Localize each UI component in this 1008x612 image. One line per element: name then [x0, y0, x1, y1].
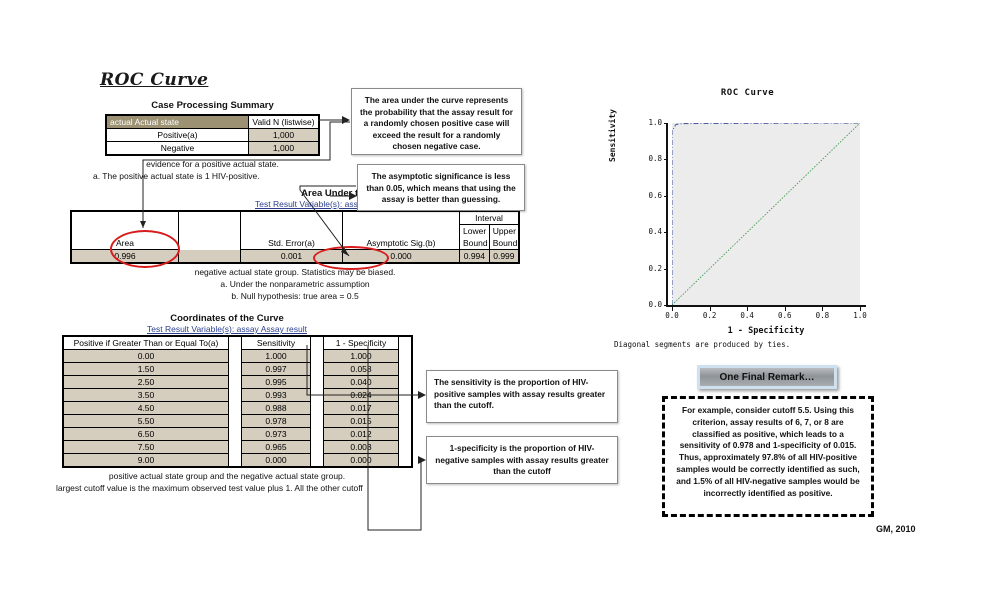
coordinates-footnote-2: largest cutoff value is the maximum obse… [56, 482, 392, 494]
chart-x-tick-label: 0.8 [810, 311, 834, 320]
table-gap-cell [399, 415, 413, 428]
table-gap-cell [229, 428, 242, 441]
coord-cell-one-minus-specificity: 0.017 [324, 402, 399, 415]
coord-cell-cutoff: 7.50 [63, 441, 229, 454]
table-gap-cell [311, 376, 324, 389]
chart-x-tick-mark [747, 307, 748, 311]
coord-cell-one-minus-specificity: 1.000 [324, 350, 399, 363]
table-row: 7.500.9650.003 [63, 441, 412, 454]
chart-y-tick-label: 0.2 [640, 264, 662, 273]
coord-cell-cutoff: 4.50 [63, 402, 229, 415]
table-gap-cell [311, 441, 324, 454]
chart-x-tick-label: 0.4 [735, 311, 759, 320]
table-row: 0.001.0001.000 [63, 350, 412, 363]
coord-cell-sensitivity: 0.000 [242, 454, 311, 468]
table-row: 5.500.9780.015 [63, 415, 412, 428]
row-label-positive: Positive(a) [106, 129, 249, 142]
case-processing-caption: Case Processing Summary [105, 100, 320, 111]
coord-cell-sensitivity: 0.993 [242, 389, 311, 402]
table-row: 6.500.9730.012 [63, 428, 412, 441]
coord-cell-cutoff: 2.50 [63, 376, 229, 389]
chart-y-tick-label: 0.4 [640, 227, 662, 236]
table-gap-cell [399, 428, 413, 441]
chart-x-tick-mark [822, 307, 823, 311]
coord-cell-sensitivity: 0.978 [242, 415, 311, 428]
coordinates-subcaption: Test Result Variable(s): assay Assay res… [62, 324, 392, 334]
chart-y-axis-label: Sensitivity [608, 109, 617, 162]
row-value-positive: 1,000 [249, 129, 320, 142]
callout-specificity: 1-specificity is the proportion of HIV-n… [426, 436, 618, 484]
auc-footnote-1: negative actual state group. Statistics … [70, 266, 520, 278]
table-gap-cell [311, 350, 324, 363]
table-gap-cell [229, 350, 242, 363]
coord-cell-sensitivity: 1.000 [242, 350, 311, 363]
chart-x-tick-mark [785, 307, 786, 311]
table-gap-cell [311, 454, 324, 468]
chart-title: ROC Curve [610, 88, 885, 98]
coordinates-table: Positive if Greater Than or Equal To(a) … [62, 335, 413, 468]
coord-cell-cutoff: 9.00 [63, 454, 229, 468]
chart-x-tick-mark [860, 307, 861, 311]
chart-x-tick-label: 0.2 [698, 311, 722, 320]
table-gap-cell [311, 428, 324, 441]
table-gap-cell [399, 402, 413, 415]
coord-cell-cutoff: 0.00 [63, 350, 229, 363]
chart-y-tick-mark [664, 232, 668, 233]
table-row: 3.500.9930.024 [63, 389, 412, 402]
coord-cell-sensitivity: 0.995 [242, 376, 311, 389]
chart-y-tick-label: 1.0 [640, 118, 662, 127]
chart-y-tick-mark [664, 159, 668, 160]
col-actual-state: actual Actual state [106, 115, 249, 129]
coord-cell-one-minus-specificity: 0.058 [324, 363, 399, 376]
table-gap-cell [399, 376, 413, 389]
table-gap-cell [399, 389, 413, 402]
chart-y-tick-label: 0.0 [640, 300, 662, 309]
table-group-header-row: Interval [71, 211, 519, 225]
table-row: 1.500.9970.058 [63, 363, 412, 376]
table-row: Negative 1,000 [106, 142, 319, 156]
highlight-ellipse-area [110, 230, 180, 268]
table-gap-cell [399, 363, 413, 376]
callout-significance: The asymptotic significance is less than… [357, 164, 525, 211]
chart-y-axis-spine [666, 123, 668, 307]
coord-cell-one-minus-specificity: 0.024 [324, 389, 399, 402]
table-gap-cell [229, 415, 242, 428]
callout-area-under-curve: The area under the curve represents the … [351, 88, 522, 155]
auc-col-std-error: Std. Error(a) [241, 225, 343, 250]
coord-cell-one-minus-specificity: 0.040 [324, 376, 399, 389]
coordinates-table-body: 0.001.0001.0001.500.9970.0582.500.9950.0… [63, 350, 412, 468]
chart-y-tick-mark [664, 196, 668, 197]
coord-cell-sensitivity: 0.965 [242, 441, 311, 454]
table-row: 4.500.9880.017 [63, 402, 412, 415]
row-label-negative: Negative [106, 142, 249, 156]
coord-cell-one-minus-specificity: 0.015 [324, 415, 399, 428]
table-row: 9.000.0000.000 [63, 454, 412, 468]
coord-cell-sensitivity: 0.973 [242, 428, 311, 441]
table-gap-cell [399, 350, 413, 363]
chart-x-axis [666, 305, 866, 307]
chart-plot-area [672, 123, 860, 305]
coord-cell-sensitivity: 0.988 [242, 402, 311, 415]
page-title: ROC Curve [100, 70, 208, 90]
callout-sensitivity: The sensitivity is the proportion of HIV… [426, 370, 618, 423]
chart-series-reference-line [672, 123, 860, 305]
chart-x-tick-label: 0.0 [660, 311, 684, 320]
table-gap-cell [229, 389, 242, 402]
case-processing-summary-block: Case Processing Summary actual Actual st… [105, 100, 320, 182]
coord-cell-one-minus-specificity: 0.003 [324, 441, 399, 454]
coord-cell-one-minus-specificity: 0.012 [324, 428, 399, 441]
coord-cell-cutoff: 5.50 [63, 415, 229, 428]
table-gap-cell [229, 454, 242, 468]
auc-footnote-3: b. Null hypothesis: true area = 0.5 [70, 290, 520, 302]
chart-x-tick-mark [710, 307, 711, 311]
coordinates-of-curve-block: Coordinates of the Curve Test Result Var… [62, 313, 392, 494]
coord-cell-one-minus-specificity: 0.000 [324, 454, 399, 468]
chart-series-svg [672, 123, 860, 305]
chart-x-tick-label: 0.6 [773, 311, 797, 320]
auc-footnote-2: a. Under the nonparametric assumption [70, 278, 520, 290]
table-gap-cell [399, 454, 413, 468]
coord-col-cutoff: Positive if Greater Than or Equal To(a) [63, 336, 229, 350]
table-header-row: actual Actual state Valid N (listwise) [106, 115, 319, 129]
highlight-ellipse-significance [313, 246, 389, 270]
table-gap-cell [229, 402, 242, 415]
auc-col-lower-bound: Lower Bound [460, 225, 490, 250]
auc-value-lower-bound: 0.994 [460, 250, 490, 264]
case-processing-footnote-2: a. The positive actual state is 1 HIV-po… [93, 170, 320, 182]
coordinates-caption: Coordinates of the Curve [62, 313, 392, 324]
coord-cell-cutoff: 3.50 [63, 389, 229, 402]
final-remark-banner: One Final Remark… [697, 365, 837, 389]
coord-cell-cutoff: 1.50 [63, 363, 229, 376]
table-gap-cell [229, 376, 242, 389]
case-processing-table: actual Actual state Valid N (listwise) P… [105, 114, 320, 156]
chart-y-tick-mark [664, 269, 668, 270]
auc-value-upper-bound: 0.999 [489, 250, 519, 264]
table-row: Positive(a) 1,000 [106, 129, 319, 142]
chart-y-tick-mark [664, 123, 668, 124]
chart-footnote: Diagonal segments are produced by ties. [614, 340, 884, 349]
coord-cell-cutoff: 6.50 [63, 428, 229, 441]
chart-x-axis-label: 1 - Specificity [672, 326, 860, 336]
coord-col-sensitivity: Sensitivity [242, 336, 311, 350]
chart-y-tick-label: 0.8 [640, 154, 662, 163]
chart-y-tick-label: 0.6 [640, 191, 662, 200]
case-processing-footnote-1: evidence for a positive actual state. [105, 158, 320, 170]
coordinates-footnote-1: positive actual state group and the nega… [62, 470, 392, 482]
author-signature: GM, 2010 [876, 524, 916, 534]
final-remark-text: For example, consider cutoff 5.5. Using … [662, 396, 874, 517]
chart-x-tick-mark [672, 307, 673, 311]
table-gap-cell [311, 402, 324, 415]
table-gap-cell [229, 441, 242, 454]
chart-x-tick-label: 1.0 [848, 311, 872, 320]
row-value-negative: 1,000 [249, 142, 320, 156]
auc-group-header-interval: Interval [460, 211, 520, 225]
table-header-row: Positive if Greater Than or Equal To(a) … [63, 336, 412, 350]
coord-col-one-minus-specificity: 1 - Specificity [324, 336, 399, 350]
table-gap-cell [311, 363, 324, 376]
table-gap-cell [399, 441, 413, 454]
table-gap-cell [311, 415, 324, 428]
coord-cell-sensitivity: 0.997 [242, 363, 311, 376]
auc-col-upper-bound: Upper Bound [489, 225, 519, 250]
col-valid-n: Valid N (listwise) [249, 115, 320, 129]
chart-y-tick-mark [664, 305, 668, 306]
table-gap-cell [311, 389, 324, 402]
table-row: 2.500.9950.040 [63, 376, 412, 389]
table-gap-cell [229, 363, 242, 376]
roc-chart: ROC Curve Sensitivity 1 - Specificity 0.… [610, 88, 885, 358]
